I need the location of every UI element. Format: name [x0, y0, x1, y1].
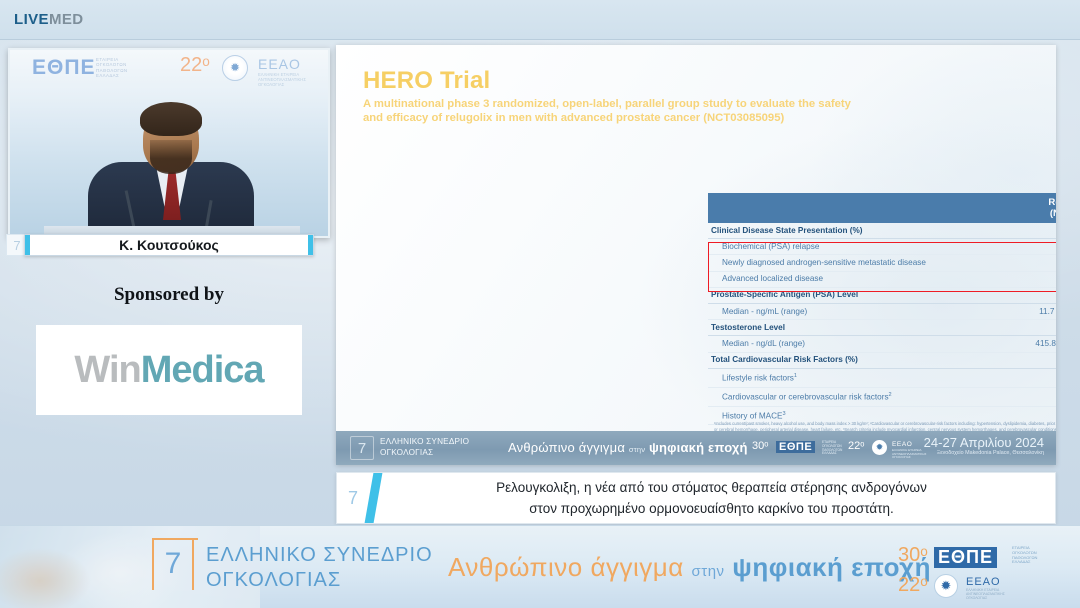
slide-banner-ed30: 30ᵒ: [752, 440, 768, 452]
table-section-label: Prostate-Specific Antigen (PSA) Level: [708, 287, 1008, 303]
speaker-hair: [140, 102, 202, 136]
eeao-logo-subtitle: ΕΛΛΗΝΙΚΗ ΕΤΑΙΡΕΙΑΑΝΤΙΝΕΟΠΛΑΣΜΑΤΙΚΗΣΟΓΚΟΛ…: [258, 72, 306, 87]
footer-eope-logo: EΘΠΕ: [934, 547, 997, 568]
slide-banner-crab-icon: ✹: [872, 440, 887, 455]
caption-line-2: στον προχωρημένο ορμονοευαίσθητο καρκίνο…: [392, 498, 1031, 519]
footnote-marker: 3: [783, 411, 786, 417]
nameplate-accent-right: [308, 235, 313, 255]
table-section-label: Total Cardiovascular Risk Factors (%): [708, 352, 1008, 368]
slide-banner-tagline: Ανθρώπινο άγγιγμα στην ψηφιακή εποχή: [508, 440, 748, 455]
footer-crab-icon: ✹: [934, 574, 958, 598]
caption-line-1: Ρελουγκολιξη, η νέα από του στόματος θερ…: [392, 477, 1031, 498]
table-header-row: Relugolix (N = 622) Leuprolide (N = 308): [708, 193, 1056, 223]
slide-banner-congress-line2: ΟΓΚΟΛΟΓΙΑΣ: [380, 447, 469, 458]
sponsored-by-label: Sponsored by: [8, 284, 330, 306]
footer-tagline: Ανθρώπινο άγγιγμα στην ψηφιακή εποχή: [448, 552, 931, 583]
slide-banner-tagline-3: ψηφιακή εποχή: [649, 440, 748, 455]
table-row: Lifestyle risk factors167.8%65.6%: [708, 368, 1056, 387]
slide-banner-badge-icon: 7: [350, 436, 374, 460]
footer-ed22: 22ᵒ: [898, 574, 928, 597]
table-row-label: Newly diagnosed androgen-sensitive metas…: [708, 255, 1008, 271]
edition-22-label: 22ᵒ: [180, 54, 210, 77]
table-cell-relugolix: [1008, 287, 1056, 303]
footer-congress-name: ΕΛΛΗΝΙΚΟ ΣΥΝΕΔΡΙΟ ΟΓΚΟΛΟΓΙΑΣ: [206, 543, 433, 593]
column-header-relugolix-n: (N = 622): [1050, 208, 1056, 219]
slide-footer-banner: 7 ΕΛΛΗΝΙΚΟ ΣΥΝΕΔΡΙΟ ΟΓΚΟΛΟΓΙΑΣ Ανθρώπινο…: [336, 431, 1056, 465]
page-footer-banner: 7 ΕΛΛΗΝΙΚΟ ΣΥΝΕΔΡΙΟ ΟΓΚΟΛΟΓΙΑΣ Ανθρώπινο…: [0, 525, 1080, 608]
slide-banner-congress-name: ΕΛΛΗΝΙΚΟ ΣΥΝΕΔΡΙΟ ΟΓΚΟΛΟΓΙΑΣ: [380, 436, 469, 458]
table-row: Median - ng/dL (range)415.8 (141.5,1258)…: [708, 336, 1056, 352]
slide-banner-tagline-1: Ανθρώπινο άγγιγμα: [508, 440, 625, 455]
table-row-label: Cardiovascular or cerebrovascular risk f…: [708, 387, 1008, 406]
table-row: Clinical Disease State Presentation (%): [708, 223, 1056, 239]
slide-banner-dates: 24-27 Απριλίου 2024: [924, 435, 1044, 450]
livemed-logo-live: LIVE: [14, 11, 49, 28]
table-row: Prostate-Specific Antigen (PSA) Level: [708, 287, 1056, 303]
footer-eope-subtitle: ΕΤΑΙΡΕΙΑΟΓΚΟΛΟΓΩΝΠΑΘΟΛΟΓΩΝΕΛΛΑΔΑΣ: [1012, 546, 1037, 565]
table-cell-relugolix: 11.7 (0.02, 5517): [1008, 303, 1056, 319]
table-cell-relugolix: 415.8 (141.5,1258): [1008, 336, 1056, 352]
slide-banner-tagline-2: στην: [629, 445, 645, 454]
slide-banner-ed22: 22ᵒ: [848, 440, 864, 452]
table-cell-relugolix: [1008, 320, 1056, 336]
speaker-video-player[interactable]: EΘΠΕ ΕΤΑΙΡΕΙΑΟΓΚΟΛΟΓΩΝΠΑΘΟΛΟΓΩΝΕΛΛΑΔΑΣ 2…: [8, 48, 330, 238]
footnote-marker: 2: [889, 392, 892, 398]
top-bar: LIVEMED: [0, 0, 1080, 40]
table-row-label: Advanced localized disease: [708, 271, 1008, 287]
column-header-characteristic: [708, 193, 1008, 223]
table-row: Newly diagnosed androgen-sensitive metas…: [708, 255, 1056, 271]
video-frame-content: EΘΠΕ ΕΤΑΙΡΕΙΑΟΓΚΟΛΟΓΩΝΠΑΘΟΛΟΓΩΝΕΛΛΑΔΑΣ 2…: [10, 50, 328, 236]
table-row: Median - ng/mL (range)11.7 (0.02, 5517)9…: [708, 303, 1056, 319]
table-body: Clinical Disease State Presentation (%)B…: [708, 223, 1056, 425]
table-head: Relugolix (N = 622) Leuprolide (N = 308): [708, 193, 1056, 223]
slide-banner-eope-subtitle: ΕΤΑΙΡΕΙΑΟΓΚΟΛΟΓΩΝΠΑΘΟΛΟΓΩΝΕΛΛΑΔΑΣ: [822, 441, 842, 456]
sponsor-logo-box[interactable]: WinMedica: [36, 325, 302, 415]
slide-banner-venue: Ξενοδοχείο Makedonia Palace, Θεσσαλονίκη: [924, 450, 1044, 456]
winmedica-logo: WinMedica: [74, 349, 263, 392]
caption-badge-icon: 7: [337, 473, 369, 523]
slide-banner-eeao-subtitle: ΕΛΛΗΝΙΚΗ ΕΤΑΙΡΕΙΑΑΝΤΙΝΕΟΠΛΑΣΜΑΤΙΚΗΣΟΓΚΟΛ…: [892, 449, 926, 460]
footer-congress-line1: ΕΛΛΗΝΙΚΟ ΣΥΝΕΔΡΙΟ: [206, 543, 433, 568]
baseline-characteristics-table: Relugolix (N = 622) Leuprolide (N = 308)…: [708, 193, 1056, 425]
winmedica-logo-win: Win: [74, 349, 140, 391]
winmedica-logo-medica: Medica: [141, 349, 264, 391]
table-row: Biochemical (PSA) relapse49.7%51.3%: [708, 239, 1056, 255]
caption-text: Ρελουγκολιξη, η νέα από του στόματος θερ…: [378, 477, 1055, 519]
footer-congress-line2: ΟΓΚΟΛΟΓΙΑΣ: [206, 568, 433, 593]
table-cell-relugolix: 27.7%: [1008, 271, 1056, 287]
slide-title: HERO Trial: [363, 67, 490, 95]
table-row: Cardiovascular or cerebrovascular risk f…: [708, 387, 1056, 406]
table-cell-relugolix: [1008, 223, 1056, 239]
footer-ed30: 30ᵒ: [898, 544, 928, 567]
table-row-label: Median - ng/mL (range): [708, 303, 1008, 319]
table-cell-relugolix: 49.7%: [1008, 239, 1056, 255]
presentation-slide[interactable]: HERO Trial A multinational phase 3 rando…: [336, 45, 1056, 465]
table-row: Testosterone Level: [708, 320, 1056, 336]
footer-tagline-1: Ανθρώπινο άγγιγμα: [448, 552, 684, 582]
table-row: Total Cardiovascular Risk Factors (%)91.…: [708, 352, 1056, 368]
eope-logo-subtitle: ΕΤΑΙΡΕΙΑΟΓΚΟΛΟΓΩΝΠΑΘΟΛΟΓΩΝΕΛΛΑΔΑΣ: [96, 57, 128, 79]
footer-badge-icon: 7: [152, 540, 194, 590]
slide-banner-eeao-logo: EEAO: [892, 441, 912, 448]
table-cell-relugolix: 91.6%: [1008, 352, 1056, 368]
footnote-marker: 1: [794, 373, 797, 379]
table-cell-relugolix: 78.5%: [1008, 387, 1056, 406]
footer-eeao-logo: EEAO: [966, 576, 1001, 588]
table-row-label: Biochemical (PSA) relapse: [708, 239, 1008, 255]
table-cell-relugolix: 67.8%: [1008, 368, 1056, 387]
slide-banner-congress-line1: ΕΛΛΗΝΙΚΟ ΣΥΝΕΔΡΙΟ: [380, 436, 469, 447]
table-row-label: Lifestyle risk factors1: [708, 368, 1008, 387]
slide-banner-dates-block: 24-27 Απριλίου 2024 Ξενοδοχείο Makedonia…: [924, 435, 1044, 456]
data-table: Relugolix (N = 622) Leuprolide (N = 308)…: [708, 193, 1056, 425]
video-backdrop-logos: EΘΠΕ ΕΤΑΙΡΕΙΑΟΓΚΟΛΟΓΩΝΠΑΘΟΛΟΓΩΝΕΛΛΑΔΑΣ 2…: [10, 50, 328, 86]
session-caption-bar: 7 Ρελουγκολιξη, η νέα από του στόματος θ…: [336, 472, 1056, 524]
eope-logo: EΘΠΕ: [32, 56, 96, 80]
table-section-label: Testosterone Level: [708, 320, 1008, 336]
table-section-label: Clinical Disease State Presentation (%): [708, 223, 1008, 239]
livemed-logo[interactable]: LIVEMED: [14, 11, 84, 28]
column-header-relugolix: Relugolix (N = 622): [1008, 193, 1056, 223]
screen: LIVEMED EΘΠΕ ΕΤΑΙΡΕΙΑΟΓΚΟΛΟΓΩΝΠΑΘΟΛΟΓΩΝΕ…: [0, 0, 1080, 608]
livemed-logo-med: MED: [49, 11, 84, 28]
speaker-name: Κ. Κουτσούκος: [30, 237, 308, 253]
table-row-label: Median - ng/dL (range): [708, 336, 1008, 352]
speaker-nameplate: Κ. Κουτσούκος: [24, 234, 314, 256]
footer-eeao-subtitle: ΕΛΛΗΝΙΚΗ ΕΤΑΙΡΕΙΑΑΝΤΙΝΕΟΠΛΑΣΜΑΤΙΚΗΣΟΓΚΟΛ…: [966, 588, 1005, 601]
slide-banner-eope-logo: EΘΠΕ: [776, 441, 815, 453]
crab-emblem-icon: [222, 55, 248, 81]
speaker-beard: [150, 140, 192, 174]
column-header-relugolix-name: Relugolix: [1048, 197, 1056, 208]
footer-tagline-2: στην: [692, 563, 725, 580]
slide-subtitle: A multinational phase 3 randomized, open…: [363, 97, 863, 125]
table-cell-relugolix: 22.7%: [1008, 255, 1056, 271]
eeao-logo: EEAO: [258, 56, 301, 72]
table-row: Advanced localized disease27.7%26.0%: [708, 271, 1056, 287]
